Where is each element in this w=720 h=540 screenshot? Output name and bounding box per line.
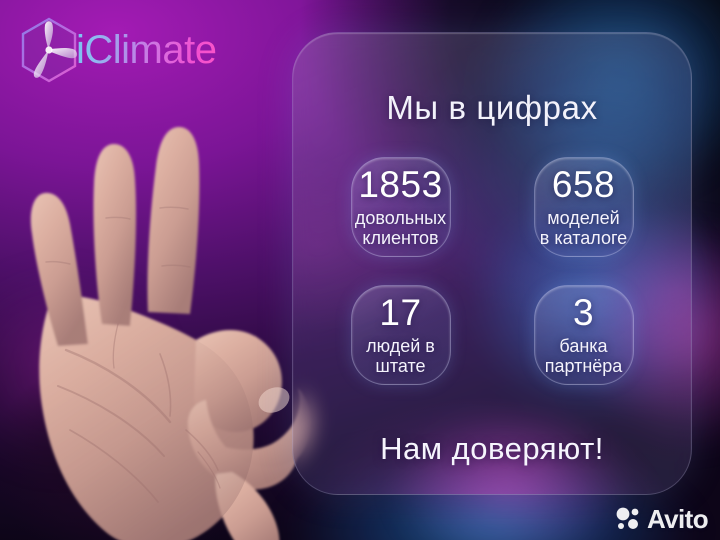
avito-dots-icon [615,506,641,532]
stat-value: 17 [379,294,421,331]
stat-label-line1: довольных [355,208,446,228]
hexagon-turbine-icon [18,16,80,84]
stat-label-line1: моделей [547,208,619,228]
brand-name: iClimate [76,30,222,70]
stat-label-line2: клиентов [362,228,438,248]
card-footer-text: Нам доверяют! [293,431,691,467]
stat-item[interactable]: 1853 довольныхклиентов [313,157,488,257]
stat-label-line2: в каталоге [540,228,627,248]
stat-label-line2: партнёра [545,356,623,376]
stat-label: моделейв каталоге [540,208,627,248]
stat-label-line1: людей в [366,336,435,356]
stat-item[interactable]: 658 моделейв каталоге [496,157,671,257]
stat-value: 3 [573,294,594,331]
stat-label: людей вштате [366,336,435,376]
stat-item[interactable]: 3 банкапартнёра [496,285,671,385]
avito-label: Avito [647,506,708,532]
stat-value: 1853 [358,166,442,203]
hand-photo [10,100,330,540]
stat-value: 658 [552,166,615,203]
stat-item[interactable]: 17 людей вштате [313,285,488,385]
stat-label: банкапартнёра [545,336,623,376]
card-title: Мы в цифрах [293,89,691,127]
brand-logo[interactable]: iClimate [18,16,222,84]
stat-label: довольныхклиентов [355,208,446,248]
stat-label-line2: штате [375,356,425,376]
stats-card: Мы в цифрах 1853 довольныхклиентов 658 м… [292,32,692,495]
poster-canvas: iClimate Мы в цифрах 1853 довольныхклиен… [0,0,720,540]
stats-grid: 1853 довольныхклиентов 658 моделейв ката… [293,157,691,385]
stat-label-line1: банка [559,336,607,356]
avito-watermark: Avito [615,506,708,532]
